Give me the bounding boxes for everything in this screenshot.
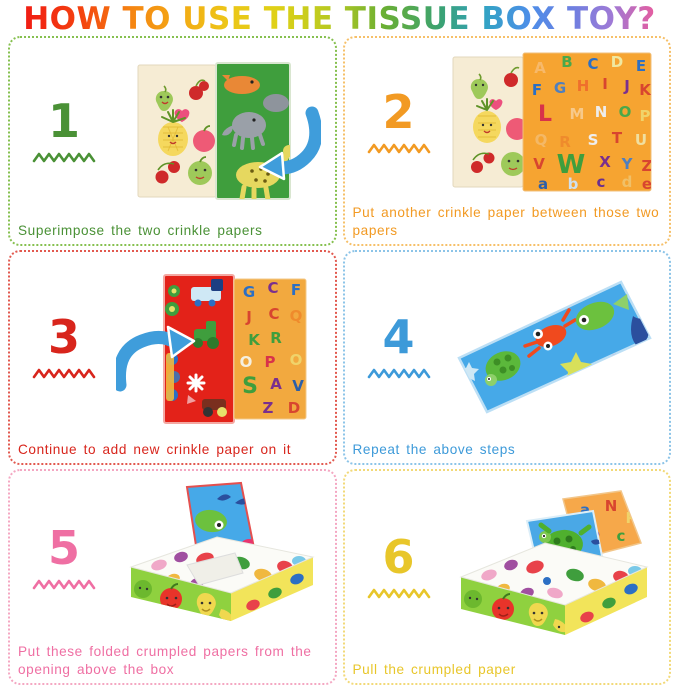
svg-text:D: D <box>611 53 623 71</box>
svg-text:J: J <box>623 77 630 95</box>
step-2-photo: A B C D E F G H I J K L M N O <box>445 44 662 204</box>
svg-text:G: G <box>554 79 566 97</box>
step-1-photo <box>110 44 327 222</box>
svg-text:N: N <box>604 497 617 515</box>
step-number: 5 <box>48 525 80 571</box>
step-card-6: 6 a <box>343 469 672 685</box>
steps-grid: 1 <box>0 36 679 689</box>
svg-text:N: N <box>595 103 608 121</box>
svg-text:O: O <box>239 353 252 371</box>
svg-text:R: R <box>559 133 571 151</box>
svg-text:M: M <box>570 105 585 123</box>
step-6-number-block: 6 <box>353 534 445 604</box>
svg-text:Q: Q <box>535 131 548 149</box>
svg-text:T: T <box>612 129 623 147</box>
svg-text:V: V <box>292 377 304 395</box>
step-number: 6 <box>382 534 414 580</box>
svg-text:V: V <box>533 155 545 173</box>
step-3-photo: G C F J C Q K R O P O S A V Z <box>110 258 327 441</box>
svg-text:K: K <box>639 81 652 99</box>
svg-text:S: S <box>588 131 599 149</box>
svg-text:R: R <box>270 329 282 347</box>
svg-text:A: A <box>534 59 546 77</box>
svg-text:O: O <box>619 103 632 121</box>
svg-text:J: J <box>245 308 252 326</box>
svg-text:Y: Y <box>621 155 634 173</box>
header: HOW TO USE THE TISSUE BOX TOY? <box>0 0 679 36</box>
svg-text:b: b <box>568 175 579 193</box>
svg-text:X: X <box>599 153 611 171</box>
step-caption: Pull the crumpled paper <box>353 661 663 679</box>
step-number: 2 <box>382 89 414 135</box>
svg-text:D: D <box>288 399 300 417</box>
step-5-photo <box>110 477 327 643</box>
step-6-photo: a N P e c <box>445 477 663 661</box>
svg-text:E: E <box>636 57 646 75</box>
step-6-illustration-area: 6 a <box>353 477 663 661</box>
svg-text:G: G <box>243 283 255 301</box>
step-1-illustration-area: 1 <box>18 44 327 222</box>
step-card-2: 2 <box>343 36 672 246</box>
svg-text:K: K <box>248 331 261 349</box>
svg-text:P: P <box>640 107 651 125</box>
page-title: HOW TO USE THE TISSUE BOX TOY? <box>23 1 656 37</box>
step-number: 1 <box>48 98 80 144</box>
step-caption: Put another crinkle paper between those … <box>353 204 662 240</box>
step-caption: Put these folded crumpled papers from th… <box>18 643 327 679</box>
step-caption: Repeat the above steps <box>353 441 662 459</box>
step-1-number-block: 1 <box>18 98 110 168</box>
step-4-illustration-area: 4 <box>353 258 662 441</box>
step-4-photo <box>445 258 662 441</box>
zigzag-divider-icon <box>367 587 431 600</box>
step-3-illustration-area: 3 <box>18 258 327 441</box>
step-card-1: 1 <box>8 36 337 246</box>
step-2-illustration-area: 2 <box>353 44 662 204</box>
step-number: 4 <box>382 314 414 360</box>
zigzag-divider-icon <box>367 142 431 155</box>
svg-text:H: H <box>577 77 590 95</box>
svg-text:F: F <box>532 81 542 99</box>
svg-text:A: A <box>270 375 282 393</box>
svg-text:P: P <box>625 509 636 527</box>
step-card-3: 3 <box>8 250 337 465</box>
svg-text:B: B <box>562 53 573 71</box>
svg-text:F: F <box>291 281 301 299</box>
svg-text:c: c <box>597 173 606 191</box>
step-2-number-block: 2 <box>353 89 445 159</box>
step-5-illustration-area: 5 <box>18 477 327 643</box>
step-5-number-block: 5 <box>18 525 110 595</box>
svg-text:d: d <box>622 173 633 191</box>
svg-text:Z: Z <box>262 399 273 417</box>
svg-text:Q: Q <box>289 307 302 325</box>
zigzag-divider-icon <box>32 367 96 380</box>
svg-text:a: a <box>538 175 548 193</box>
svg-text:C: C <box>588 55 599 73</box>
svg-text:L: L <box>538 102 552 127</box>
svg-text:C: C <box>267 279 278 297</box>
svg-text:S: S <box>242 374 258 399</box>
step-4-number-block: 4 <box>353 314 445 384</box>
svg-text:Z: Z <box>642 157 653 175</box>
step-caption: Continue to add new crinkle paper on it <box>18 441 327 459</box>
step-card-5: 5 <box>8 469 337 685</box>
svg-text:C: C <box>268 305 279 323</box>
step-caption: Superimpose the two crinkle papers <box>18 222 327 240</box>
step-number: 3 <box>48 314 80 360</box>
zigzag-divider-icon <box>367 367 431 380</box>
svg-text:O: O <box>289 351 302 369</box>
svg-text:P: P <box>264 353 275 371</box>
svg-text:c: c <box>616 527 625 545</box>
step-card-4: 4 <box>343 250 672 465</box>
zigzag-divider-icon <box>32 578 96 591</box>
svg-text:U: U <box>635 131 647 149</box>
zigzag-divider-icon <box>32 151 96 164</box>
step-3-number-block: 3 <box>18 314 110 384</box>
svg-text:I: I <box>602 75 608 93</box>
